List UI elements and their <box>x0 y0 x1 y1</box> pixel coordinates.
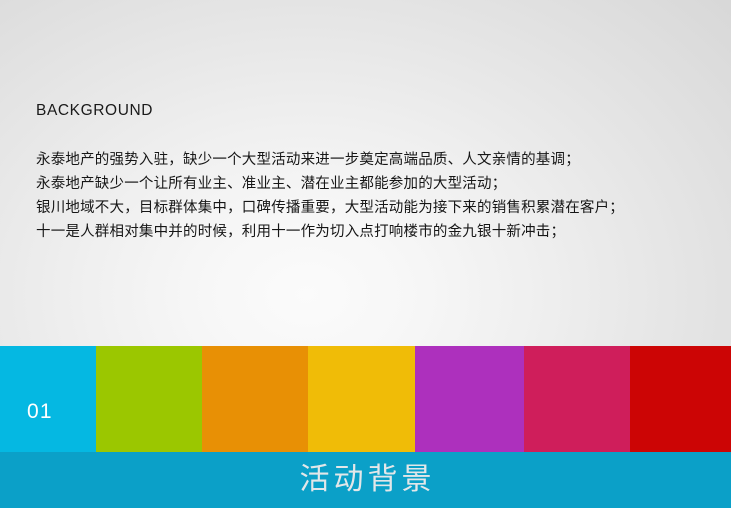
slide-canvas: BACKGROUND 永泰地产的强势入驻，缺少一个大型活动来进一步奠定高端品质、… <box>0 0 731 508</box>
body-line: 银川地域不大，目标群体集中，口碑传播重要，大型活动能为接下来的销售积累潜在客户； <box>36 196 716 220</box>
color-block-yellow <box>308 346 415 452</box>
color-block-cyan: 01 <box>0 346 96 452</box>
content-block: BACKGROUND 永泰地产的强势入驻，缺少一个大型活动来进一步奠定高端品质、… <box>36 100 716 244</box>
color-block-dark-orange <box>202 346 308 452</box>
color-block-red <box>630 346 731 452</box>
color-block-strip: 01 <box>0 346 731 452</box>
body-paragraph-list: 永泰地产的强势入驻，缺少一个大型活动来进一步奠定高端品质、人文亲情的基调； 永泰… <box>36 148 716 244</box>
body-line: 十一是人群相对集中并的时候，利用十一作为切入点打响楼市的金九银十新冲击； <box>36 220 716 244</box>
section-title: 活动背景 <box>296 465 436 495</box>
color-block-crimson <box>524 346 630 452</box>
body-line: 永泰地产缺少一个让所有业主、准业主、潜在业主都能参加的大型活动； <box>36 172 716 196</box>
section-number: 01 <box>0 401 53 452</box>
body-line: 永泰地产的强势入驻，缺少一个大型活动来进一步奠定高端品质、人文亲情的基调； <box>36 148 716 172</box>
color-block-green <box>96 346 202 452</box>
section-title-band: 活动背景 <box>0 452 731 508</box>
section-eyebrow-label: BACKGROUND <box>36 100 716 122</box>
color-block-purple <box>415 346 524 452</box>
